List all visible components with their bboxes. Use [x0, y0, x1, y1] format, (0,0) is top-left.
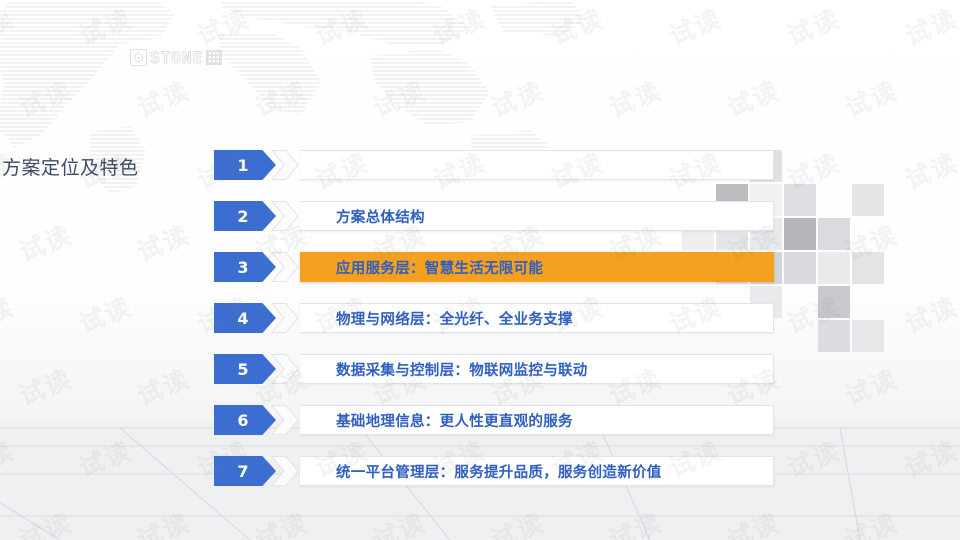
agenda-row[interactable]: 6基础地理信息：更人性更直观的服务 [214, 405, 774, 435]
mosaic-square [852, 320, 884, 352]
watermark-text: 试读 [899, 143, 960, 197]
watermark-text: 试读 [249, 503, 313, 540]
agenda-row-label: 应用服务层：智慧生活无限可能 [336, 257, 543, 278]
mosaic-square [818, 320, 850, 352]
agenda-row-bar[interactable]: 应用服务层：智慧生活无限可能 [300, 252, 774, 282]
mosaic-square [784, 184, 816, 216]
watermark-text: 试读 [131, 71, 195, 125]
watermark-text: 试读 [249, 71, 313, 125]
slide-canvas: STONE 试读试读试读试读试读试读试读试读试读试读试读试读试读试读试读试读试读… [0, 0, 960, 540]
agenda-list: 12方案总体结构3应用服务层：智慧生活无限可能4物理与网络层：全光纤、全业务支撑… [214, 150, 774, 507]
watermark-text: 试读 [781, 431, 845, 485]
agenda-row-bar[interactable] [300, 150, 774, 180]
watermark-text: 试读 [131, 215, 195, 269]
watermark-text: 试读 [13, 215, 77, 269]
logo-text: STONE [150, 48, 203, 67]
agenda-row-label: 方案总体结构 [336, 206, 425, 227]
watermark-text: 试读 [367, 503, 431, 540]
watermark-text: 试读 [839, 359, 903, 413]
watermark-text: 试读 [0, 0, 19, 53]
mosaic-square [818, 286, 850, 318]
mosaic-square [852, 184, 884, 216]
agenda-row-number: 6 [214, 405, 276, 435]
agenda-row-number: 3 [214, 252, 276, 282]
agenda-row-bar[interactable]: 统一平台管理层：服务提升品质，服务创造新价值 [300, 456, 774, 486]
agenda-row-number: 2 [214, 201, 276, 231]
stone-logo: STONE [130, 48, 222, 67]
circle-target-icon [130, 49, 147, 66]
watermark-text: 试读 [13, 503, 77, 540]
watermark-text: 试读 [485, 71, 549, 125]
agenda-row-label: 统一平台管理层：服务提升品质，服务创造新价值 [336, 461, 662, 482]
agenda-row[interactable]: 3应用服务层：智慧生活无限可能 [214, 252, 774, 282]
mosaic-square [852, 252, 884, 284]
watermark-text: 试读 [781, 143, 845, 197]
agenda-row-bar[interactable]: 物理与网络层：全光纤、全业务支撑 [300, 303, 774, 333]
mosaic-square [818, 252, 850, 284]
agenda-row-number: 4 [214, 303, 276, 333]
watermark-text: 试读 [721, 503, 785, 540]
agenda-row-label: 数据采集与控制层：物联网监控与联动 [336, 359, 588, 380]
watermark-text: 试读 [131, 359, 195, 413]
agenda-row-bar[interactable]: 数据采集与控制层：物联网监控与联动 [300, 354, 774, 384]
watermark-text: 试读 [899, 287, 960, 341]
watermark-text: 试读 [839, 503, 903, 540]
agenda-row[interactable]: 1 [214, 150, 774, 180]
watermark-text: 试读 [73, 431, 137, 485]
watermark-text: 试读 [899, 0, 960, 53]
watermark-text: 试读 [485, 503, 549, 540]
agenda-row-number: 5 [214, 354, 276, 384]
watermark-text: 试读 [545, 0, 609, 53]
grid-badge-icon [206, 50, 222, 65]
watermark-text: 试读 [73, 287, 137, 341]
watermark-text: 试读 [191, 0, 255, 53]
agenda-row[interactable]: 7统一平台管理层：服务提升品质，服务创造新价值 [214, 456, 774, 486]
watermark-text: 试读 [309, 0, 373, 53]
agenda-row[interactable]: 2方案总体结构 [214, 201, 774, 231]
watermark-text: 试读 [73, 0, 137, 53]
agenda-row-number: 1 [214, 150, 276, 180]
watermark-text: 试读 [781, 0, 845, 53]
agenda-row[interactable]: 5数据采集与控制层：物联网监控与联动 [214, 354, 774, 384]
agenda-row-bar[interactable]: 基础地理信息：更人性更直观的服务 [300, 405, 774, 435]
watermark-text: 试读 [899, 431, 960, 485]
watermark-text: 试读 [131, 503, 195, 540]
watermark-text: 试读 [0, 287, 19, 341]
agenda-row-number: 7 [214, 456, 276, 486]
watermark-text: 试读 [427, 0, 491, 53]
watermark-text: 试读 [13, 359, 77, 413]
watermark-text: 试读 [603, 71, 667, 125]
page-title: 方案定位及特色 [2, 153, 139, 180]
watermark-text: 试读 [781, 287, 845, 341]
agenda-row-bar[interactable]: 方案总体结构 [300, 201, 774, 231]
watermark-text: 试读 [663, 0, 727, 53]
mosaic-square [784, 252, 816, 284]
watermark-text: 试读 [839, 71, 903, 125]
watermark-text: 试读 [603, 503, 667, 540]
mosaic-square [818, 218, 850, 250]
watermark-text: 试读 [721, 71, 785, 125]
watermark-text: 试读 [13, 71, 77, 125]
watermark-text: 试读 [839, 215, 903, 269]
watermark-text: 试读 [0, 431, 19, 485]
agenda-row-label: 物理与网络层：全光纤、全业务支撑 [336, 308, 573, 329]
mosaic-square [784, 218, 816, 250]
agenda-row[interactable]: 4物理与网络层：全光纤、全业务支撑 [214, 303, 774, 333]
agenda-row-label: 基础地理信息：更人性更直观的服务 [336, 410, 573, 431]
watermark-text: 试读 [367, 71, 431, 125]
